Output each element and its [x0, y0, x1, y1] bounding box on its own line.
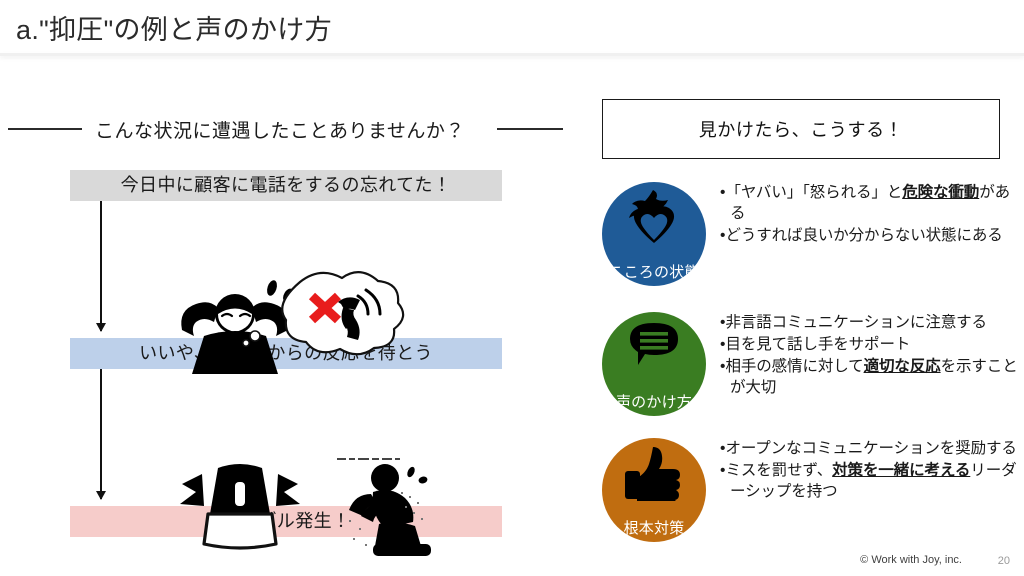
heading-rule-left: [8, 128, 82, 130]
flow-connector-1: [100, 201, 102, 331]
advice-bullets-koe: •非言語コミュニケーションに注意する •目を見て話し手をサポート •相手の感情に…: [720, 312, 1020, 399]
bullet-item: •「ヤバい」「怒られる」と危険な衝動がある: [720, 182, 1020, 224]
right-column: 見かけたら、こうする！ こころの状態 •「ヤバい」「怒られる」と危険な衝動がある…: [595, 70, 1024, 570]
advice-bullets-kokoro: •「ヤバい」「怒られる」と危険な衝動がある •どうすれば良いか分からない状態にあ…: [720, 182, 1020, 247]
badge-label: 声のかけ方: [602, 394, 706, 411]
advice-bullets-konpon: •オープンなコミュニケーションを奨励する •ミスを罰せず、対策を一緒に考えるリー…: [720, 438, 1020, 503]
bullet-item: •ミスを罰せず、対策を一緒に考えるリーダーシップを持つ: [720, 460, 1020, 502]
flow-connector-2: [100, 369, 102, 499]
slide-header: a."抑圧"の例と声のかけ方: [0, 0, 1024, 53]
badge-konpon-taisaku: 根本対策: [602, 438, 706, 542]
header-divider: [0, 53, 1024, 56]
left-heading-group: こんな状況に遭遇したことありませんか？: [0, 116, 575, 146]
badge-label: 根本対策: [602, 520, 706, 537]
bullet-item: •目を見て話し手をサポート: [720, 334, 1020, 355]
alarm-siren-and-despairing-person-icon: [160, 452, 450, 557]
bullet-item: •非言語コミュニケーションに注意する: [720, 312, 1020, 333]
arrow-down-icon: [96, 491, 106, 500]
arrow-down-icon: [96, 323, 106, 332]
footer-page-number: 20: [998, 555, 1010, 567]
left-heading-text: こんな状況に遭遇したことありませんか？: [95, 116, 465, 143]
heading-rule-right: [497, 128, 563, 130]
right-title-text: 見かけたら、こうする！: [699, 116, 904, 142]
bullet-item: •オープンなコミュニケーションを奨励する: [720, 438, 1020, 459]
page-title: a."抑圧"の例と声のかけ方: [16, 8, 332, 47]
badge-kokoro-no-jotai: こころの状態: [602, 182, 706, 286]
speech-bubble-icon: [623, 319, 685, 375]
flow-step-1: 今日中に顧客に電話をするの忘れてた！: [70, 170, 502, 201]
badge-label: こころの状態: [602, 264, 706, 281]
bullet-item: •どうすれば良いか分からない状態にある: [720, 225, 1020, 246]
flaming-heart-icon: [623, 189, 685, 245]
footer-copyright: © Work with Joy, inc.: [860, 554, 962, 566]
badge-koe-no-kakekata: 声のかけ方: [602, 312, 706, 416]
bullet-item: •相手の感情に対して適切な反応を示すことが大切: [720, 356, 1020, 398]
right-title-box: 見かけたら、こうする！: [602, 99, 1000, 159]
left-column: こんな状況に遭遇したことありませんか？ 今日中に顧客に電話をするの忘れてた！ い…: [0, 70, 575, 570]
thumbs-up-icon: [623, 445, 685, 501]
stressed-person-with-missed-call-thought-icon: [160, 266, 420, 376]
